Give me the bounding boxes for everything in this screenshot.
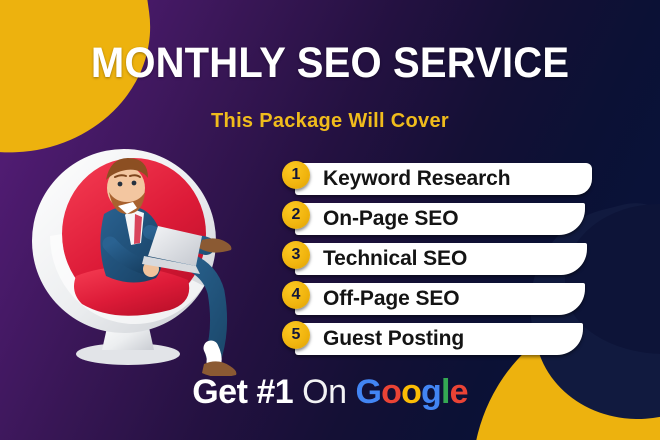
feature-label: On-Page SEO <box>323 204 458 234</box>
google-letter-2: o <box>401 373 421 411</box>
page-subtitle: This Package Will Cover <box>0 110 660 133</box>
tagline-part-1: Get #1 <box>192 373 293 411</box>
google-wordmark: Google <box>355 373 467 411</box>
feature-number-badge: 1 <box>282 161 310 189</box>
google-letter-4: l <box>441 373 450 411</box>
tagline: Get #1 On Google <box>0 372 660 412</box>
eye-left <box>118 182 123 187</box>
google-letter-0: G <box>355 373 381 411</box>
page-title: MONTHLY SEO SERVICE <box>23 38 637 88</box>
feature-number-badge: 3 <box>282 241 310 269</box>
feature-label: Guest Posting <box>323 324 464 354</box>
google-letter-5: e <box>450 373 468 411</box>
google-letter-3: g <box>421 373 441 411</box>
tagline-part-2: On <box>293 373 355 411</box>
feature-label: Off-Page SEO <box>323 284 460 314</box>
feature-label: Keyword Research <box>323 164 510 194</box>
feature-list: 1 Keyword Research 2 On-Page SEO 3 Techn… <box>282 161 602 361</box>
eye-right <box>132 181 137 186</box>
feature-label: Technical SEO <box>323 244 467 274</box>
list-item[interactable]: 2 On-Page SEO <box>282 201 602 241</box>
list-item[interactable]: 5 Guest Posting <box>282 321 602 361</box>
sock <box>211 348 214 362</box>
feature-number-badge: 4 <box>282 281 310 309</box>
list-item[interactable]: 4 Off-Page SEO <box>282 281 602 321</box>
list-item[interactable]: 1 Keyword Research <box>282 161 602 201</box>
list-item[interactable]: 3 Technical SEO <box>282 241 602 281</box>
feature-number-badge: 5 <box>282 321 310 349</box>
feature-number-badge: 2 <box>282 201 310 229</box>
google-letter-1: o <box>381 373 401 411</box>
man-in-egg-chair-illustration <box>18 136 270 376</box>
seo-service-poster: MONTHLY SEO SERVICE This Package Will Co… <box>0 0 660 440</box>
